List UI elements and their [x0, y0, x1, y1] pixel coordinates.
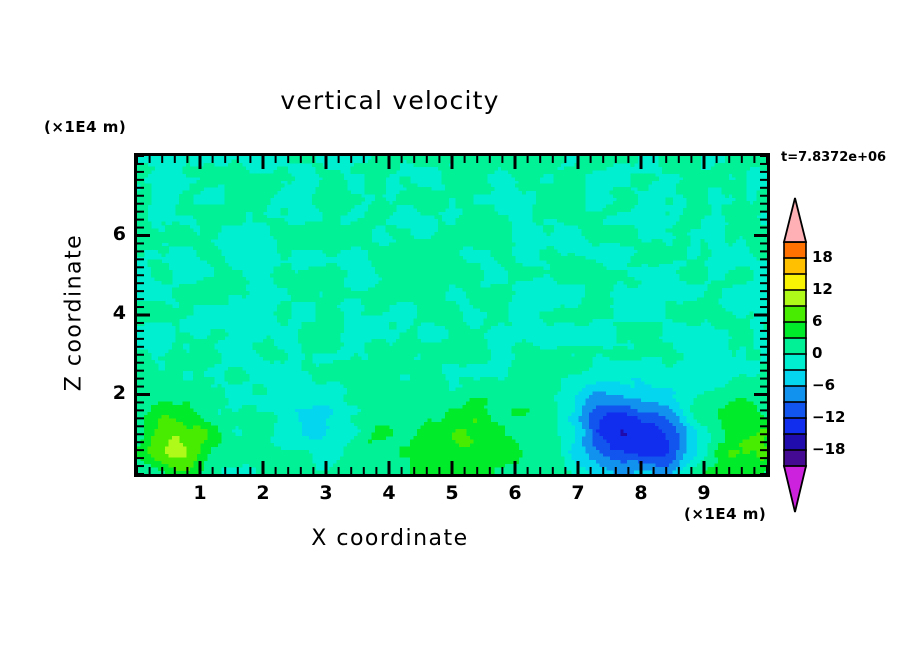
colorbar-band — [784, 386, 806, 403]
colorbar-band — [784, 402, 806, 419]
x-tick-label: 6 — [495, 482, 535, 504]
y-tick-label: 4 — [96, 302, 126, 324]
axis-ticks — [134, 153, 774, 485]
colorbar-tick-label: −18 — [812, 440, 862, 458]
colorbar-band — [784, 338, 806, 355]
colorbar-band — [784, 306, 806, 323]
x-axis-unit-label: (×1E4 m) — [684, 505, 766, 523]
colorbar-over-arrow — [784, 198, 806, 242]
y-tick-label: 6 — [96, 223, 126, 245]
x-tick-label: 9 — [684, 482, 724, 504]
page-title: vertical velocity — [0, 86, 780, 115]
colorbar — [778, 196, 814, 518]
x-tick-label: 5 — [432, 482, 472, 504]
colorbar-band — [784, 274, 806, 291]
colorbar-band — [784, 354, 806, 371]
y-axis-title: Z coordinate — [62, 203, 87, 423]
colorbar-tick-label: 12 — [812, 280, 862, 298]
colorbar-tick-label: 18 — [812, 248, 862, 266]
y-tick-label: 2 — [96, 382, 126, 404]
y-axis-unit-label: (×1E4 m) — [44, 118, 126, 136]
colorbar-band — [784, 258, 806, 275]
colorbar-band — [784, 242, 806, 259]
colorbar-band — [784, 434, 806, 451]
x-tick-label: 1 — [180, 482, 220, 504]
x-tick-label: 4 — [369, 482, 409, 504]
x-tick-label: 3 — [306, 482, 346, 504]
colorbar-band — [784, 418, 806, 435]
x-tick-label: 8 — [621, 482, 661, 504]
colorbar-tick-label: −12 — [812, 408, 862, 426]
x-axis-title: X coordinate — [0, 526, 780, 551]
colorbar-under-arrow — [784, 466, 806, 512]
colorbar-band — [784, 290, 806, 307]
colorbar-tick-label: −6 — [812, 376, 862, 394]
colorbar-band — [784, 370, 806, 387]
time-stamp-annotation: t=7.8372e+06 — [781, 150, 886, 165]
colorbar-tick-label: 0 — [812, 344, 862, 362]
colorbar-band — [784, 322, 806, 339]
x-tick-label: 2 — [243, 482, 283, 504]
colorbar-tick-label: 6 — [812, 312, 862, 330]
colorbar-band — [784, 450, 806, 467]
x-tick-label: 7 — [558, 482, 598, 504]
